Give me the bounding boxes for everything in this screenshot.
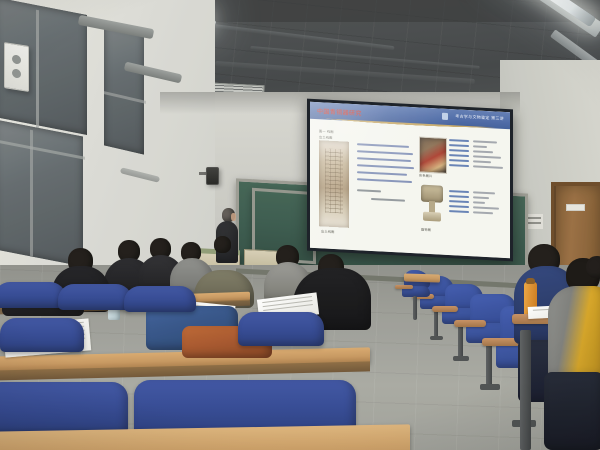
chair-back bbox=[58, 284, 132, 310]
window-right[interactable] bbox=[104, 23, 144, 154]
tablet-chair-arm[interactable] bbox=[454, 320, 486, 327]
lecturer-face bbox=[231, 213, 236, 221]
ceiling-shadow-band bbox=[150, 0, 600, 22]
chair-mid-3[interactable] bbox=[124, 286, 196, 312]
unit-dial-top bbox=[12, 54, 21, 64]
door-sign bbox=[566, 204, 585, 211]
tablet-chair-foot bbox=[430, 336, 443, 340]
slide-left-caption-sub: 出土线图 bbox=[319, 134, 333, 140]
vessel-caption: 器物图 bbox=[421, 227, 431, 233]
slide-logo-icon bbox=[442, 112, 448, 119]
chair-mid-1[interactable] bbox=[0, 282, 66, 308]
tablet-chair-leg bbox=[434, 308, 438, 338]
info-table-top bbox=[449, 138, 509, 171]
slide-body: 图一 线图 出土线图 出土线图 bbox=[315, 127, 506, 254]
classroom-scene: 中国青铜器研究 考古学与文物鉴定 第三讲 图一 线图 出土线图 出土线图 bbox=[0, 0, 600, 450]
artifact-drawing-caption: 出土线图 bbox=[321, 228, 335, 234]
window-mullion-c bbox=[30, 130, 33, 257]
chair-back bbox=[0, 382, 128, 434]
chair-mid-2[interactable] bbox=[58, 284, 132, 310]
chair-back bbox=[238, 312, 324, 346]
wall-mounted-unit bbox=[4, 42, 29, 92]
vessel-bowl bbox=[421, 185, 443, 203]
wall-speaker bbox=[206, 167, 219, 185]
tablet-chair-leg bbox=[486, 341, 492, 387]
unit-dial-bottom bbox=[12, 68, 21, 78]
chair-foreground-left[interactable] bbox=[0, 382, 128, 434]
presentation-slide: 中国青铜器研究 考古学与文物鉴定 第三讲 图一 线图 出土线图 出土线图 bbox=[310, 102, 510, 258]
student-head bbox=[214, 236, 231, 253]
artifact-vessel-image bbox=[419, 184, 445, 225]
tablet-chair-leg bbox=[458, 322, 463, 358]
tablet-chair-leg bbox=[413, 296, 417, 320]
window-lower-left[interactable] bbox=[0, 119, 83, 266]
student-head bbox=[586, 256, 600, 278]
tablet-chair-foot bbox=[480, 384, 500, 390]
photo-caption: 彩色图片 bbox=[419, 172, 433, 178]
tablet-chair-foot bbox=[453, 356, 469, 361]
screen-surface: 中国青铜器研究 考古学与文物鉴定 第三讲 图一 线图 出土线图 出土线图 bbox=[310, 102, 510, 258]
chair-back bbox=[0, 318, 84, 352]
chair-back bbox=[124, 286, 196, 312]
info-table-bottom bbox=[449, 189, 509, 217]
chair-back bbox=[0, 282, 66, 308]
student-body bbox=[548, 286, 600, 378]
foreground-chair-post bbox=[520, 330, 531, 450]
chair-row3-1[interactable] bbox=[0, 318, 84, 352]
tablet-chair-arm[interactable] bbox=[395, 285, 413, 289]
artifact-line-drawing bbox=[319, 140, 349, 228]
side-table bbox=[404, 273, 440, 282]
vessel-base bbox=[423, 212, 441, 222]
chair-row3-2[interactable] bbox=[238, 312, 324, 346]
slide-left-caption-top: 图一 线图 bbox=[319, 128, 334, 134]
projection-screen[interactable]: 中国青铜器研究 考古学与文物鉴定 第三讲 图一 线图 出土线图 出土线图 bbox=[307, 99, 513, 262]
window-mullion-a bbox=[36, 10, 39, 129]
artifact-color-photo bbox=[419, 136, 447, 173]
orange-drink-bottle-cap bbox=[526, 278, 535, 284]
student-legs bbox=[544, 372, 600, 450]
tablet-chair-arm[interactable] bbox=[432, 306, 458, 312]
